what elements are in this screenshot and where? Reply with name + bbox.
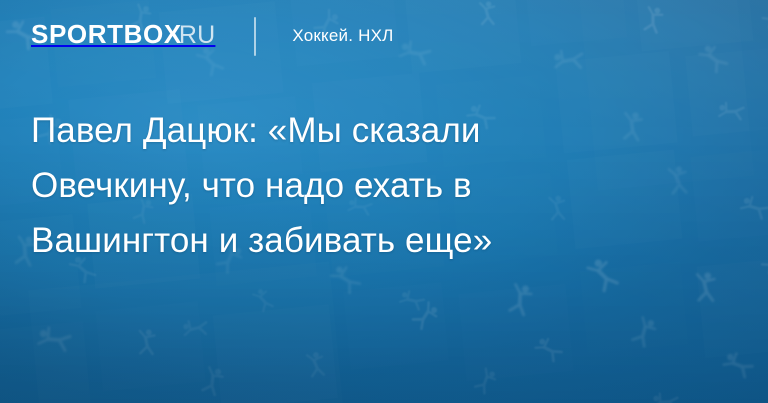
site-header: SPORTBOXRU Хоккей. НХЛ [0, 0, 768, 72]
logo-tld-text: RU [179, 23, 216, 48]
article-header-card: SPORTBOXRU Хоккей. НХЛ Павел Дацюк: «Мы … [0, 0, 768, 403]
headline-line-1: Павел Дацюк: «Мы сказали [31, 103, 731, 158]
sportbox-logo[interactable]: SPORTBOXRU [31, 23, 215, 49]
headline-line-3: Вашингтон и забивать еще» [31, 213, 731, 268]
header-divider [254, 17, 256, 56]
category-label: Хоккей. НХЛ [292, 26, 393, 46]
article-headline: Павел Дацюк: «Мы сказали Овечкину, что н… [31, 103, 731, 268]
headline-line-2: Овечкину, что надо ехать в [31, 158, 731, 213]
logo-main-text: SPORTBOX [31, 23, 182, 49]
